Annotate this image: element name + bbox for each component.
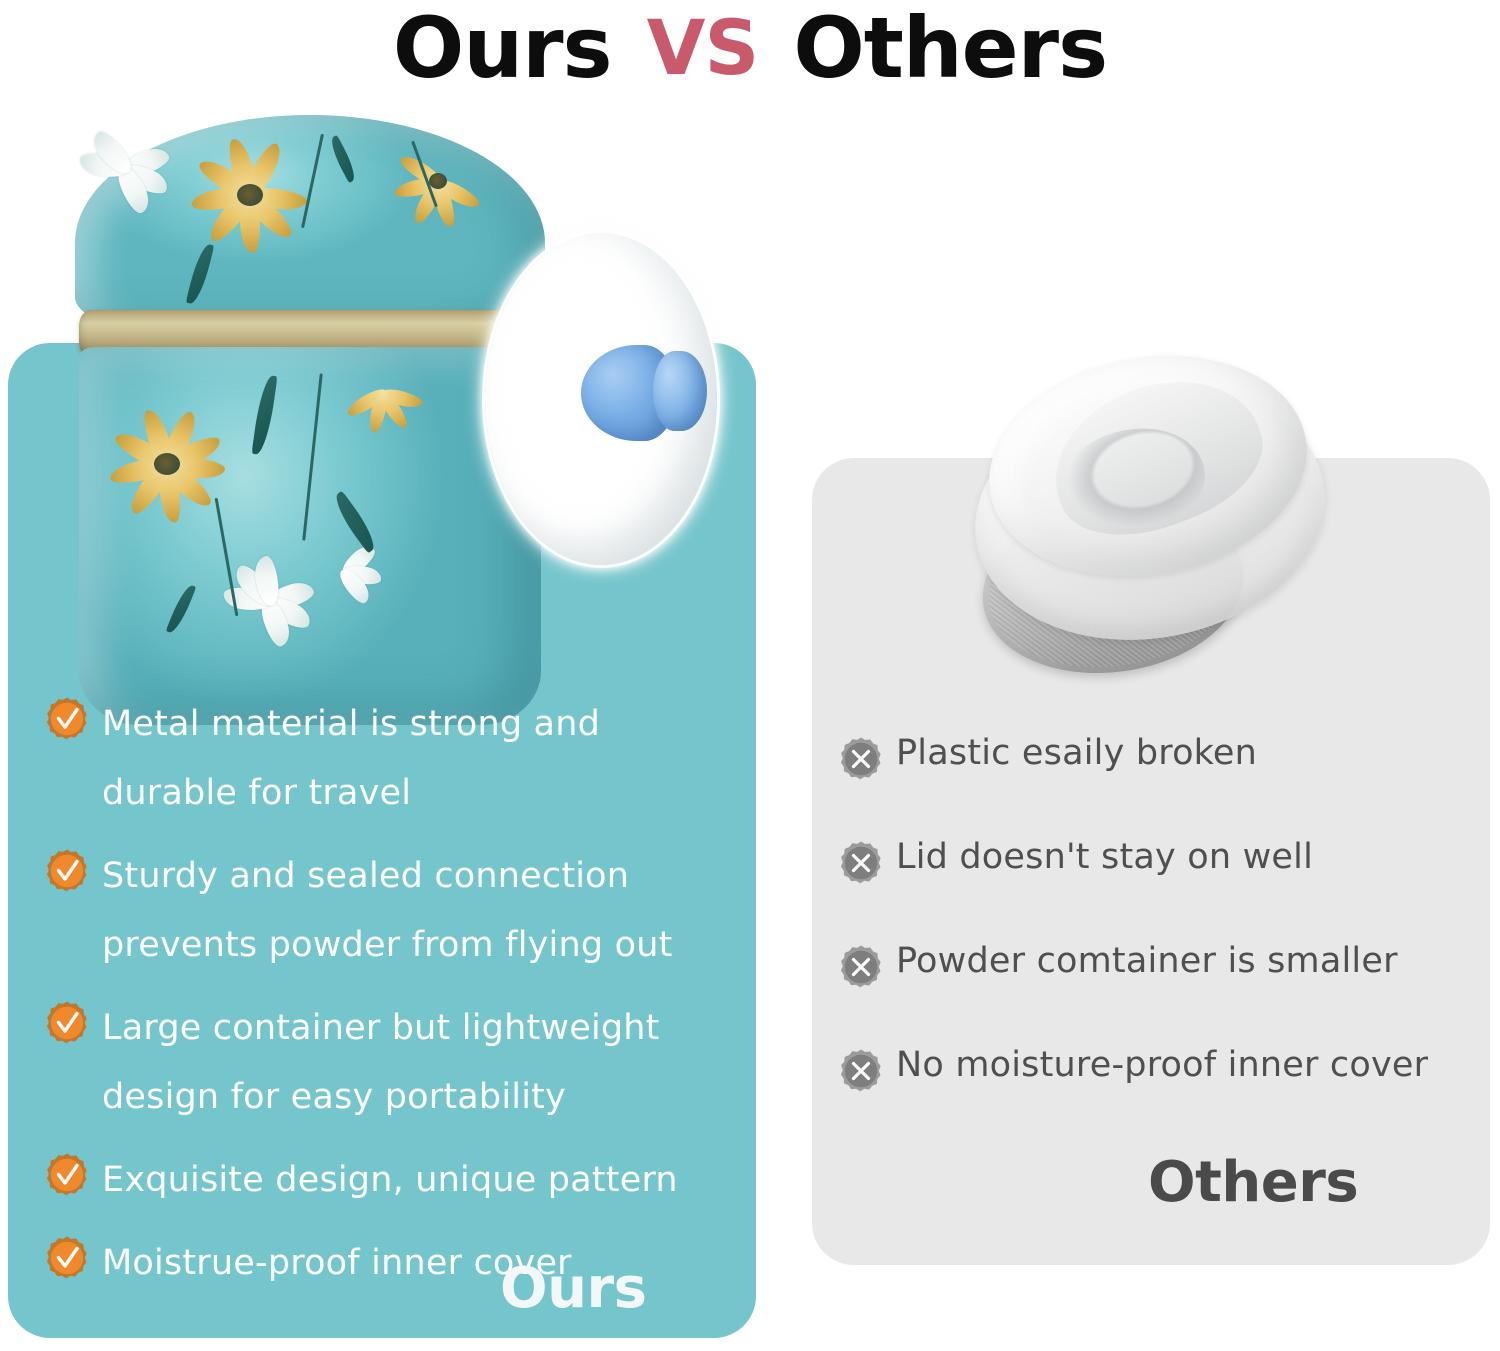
title-word-others: Others xyxy=(793,2,1107,94)
others-feature-list: Plastic esaily broken Lid doesn't stay o… xyxy=(840,730,1480,1146)
list-item: No moisture-proof inner cover xyxy=(840,1042,1480,1094)
list-item-label: Sturdy and sealed connection prevents po… xyxy=(102,842,726,980)
body-stem-2 xyxy=(215,498,239,617)
list-item: Metal material is strong and durable for… xyxy=(46,690,726,828)
comparison-infographic: Ours VS Others xyxy=(0,0,1500,1351)
ours-feature-list: Metal material is strong and durable for… xyxy=(46,690,726,1312)
list-item: Lid doesn't stay on well xyxy=(840,834,1480,886)
list-item: Large container but lightweight design f… xyxy=(46,994,726,1132)
list-item: Powder comtainer is smaller xyxy=(840,938,1480,990)
tin-body xyxy=(79,347,541,725)
cross-badge-icon xyxy=(840,1048,882,1094)
others-panel-label: Others xyxy=(1148,1150,1358,1215)
lid-leaf-1 xyxy=(186,242,215,306)
ours-product-image xyxy=(55,105,755,665)
body-leaf-3 xyxy=(166,583,197,636)
puff-handle xyxy=(581,329,709,457)
list-item-label: Large container but lightweight design f… xyxy=(102,994,726,1132)
powder-puff xyxy=(485,233,717,565)
others-product-image xyxy=(960,352,1360,682)
lid-stem-2 xyxy=(411,141,438,208)
puff-handle-knob xyxy=(653,351,707,431)
title-word-vs: VS xyxy=(647,2,759,94)
cross-badge-icon xyxy=(840,944,882,990)
check-badge-icon xyxy=(46,1000,88,1046)
tin-lid xyxy=(75,115,545,330)
list-item-label: Lid doesn't stay on well xyxy=(896,834,1313,880)
title-word-ours: Ours xyxy=(393,2,612,94)
list-item: Sturdy and sealed connection prevents po… xyxy=(46,842,726,980)
check-badge-icon xyxy=(46,848,88,894)
body-leaf-1 xyxy=(252,374,278,455)
list-item: Plastic esaily broken xyxy=(840,730,1480,782)
check-badge-icon xyxy=(46,696,88,742)
check-badge-icon xyxy=(46,1235,88,1281)
list-item-label: Plastic esaily broken xyxy=(896,730,1257,776)
check-badge-icon xyxy=(46,1152,88,1198)
lid-leaf-2 xyxy=(326,135,359,183)
list-item-label: Powder comtainer is smaller xyxy=(896,938,1398,984)
list-item-label: Exquisite design, unique pattern xyxy=(102,1146,678,1215)
lid-stem-1 xyxy=(301,134,324,229)
list-item: Exquisite design, unique pattern xyxy=(46,1146,726,1215)
body-stem-1 xyxy=(302,373,323,540)
list-item-label: No moisture-proof inner cover xyxy=(896,1042,1428,1088)
body-leaf-2 xyxy=(329,491,381,554)
ours-panel-label: Ours xyxy=(500,1256,646,1321)
cross-badge-icon xyxy=(840,736,882,782)
page-title: Ours VS Others xyxy=(0,2,1500,94)
list-item-label: Metal material is strong and durable for… xyxy=(102,690,726,828)
cross-badge-icon xyxy=(840,840,882,886)
